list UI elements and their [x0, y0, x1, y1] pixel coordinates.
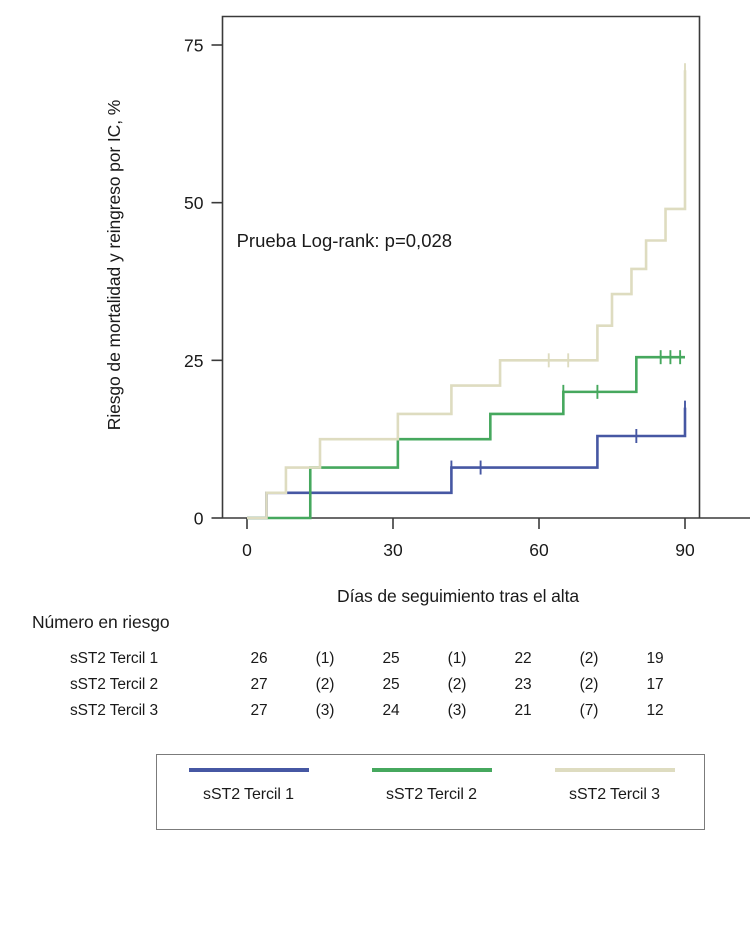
x-tick-label-60: 60	[529, 540, 549, 560]
risk-table-row: sST2 Tercil 327(3)24(3)21(7)12	[70, 698, 686, 724]
legend-label-tercil-2: sST2 Tercil 2	[386, 786, 477, 804]
risk-cell-label: sST2 Tercil 1	[70, 646, 228, 672]
plot-frame	[223, 17, 700, 519]
x-tick-label-0: 0	[242, 540, 252, 560]
legend-label-tercil-3: sST2 Tercil 3	[569, 786, 660, 804]
risk-cell-n60: 21	[492, 698, 554, 724]
risk-cell-c60: (2)	[554, 646, 624, 672]
km-step-line-1	[247, 408, 685, 518]
y-tick-label-75: 75	[184, 36, 203, 56]
risk-cell-c30: (3)	[422, 698, 492, 724]
risk-cell-label: sST2 Tercil 3	[70, 698, 228, 724]
risk-cell-n0: 26	[228, 646, 290, 672]
plot-area: 0255075 0306090 Prueba Log-rank: p=0,028…	[0, 0, 750, 600]
risk-cell-n0: 27	[228, 672, 290, 698]
risk-table: sST2 Tercil 126(1)25(1)22(2)19sST2 Terci…	[70, 646, 686, 724]
risk-cell-c0: (2)	[290, 672, 360, 698]
risk-cell-c30: (2)	[422, 672, 492, 698]
risk-cell-n30: 25	[360, 672, 422, 698]
risk-cell-c30: (1)	[422, 646, 492, 672]
y-tick-label-50: 50	[184, 193, 204, 213]
risk-table-title: Número en riesgo	[32, 612, 170, 633]
y-tick-label-0: 0	[194, 509, 204, 529]
risk-cell-c0: (3)	[290, 698, 360, 724]
legend-swatch-tercil-2	[372, 768, 492, 772]
kaplan-meier-figure: 0255075 0306090 Prueba Log-rank: p=0,028…	[0, 0, 750, 943]
km-step-line-3	[247, 70, 685, 518]
legend-box: sST2 Tercil 1 sST2 Tercil 2 sST2 Tercil …	[156, 754, 705, 830]
risk-cell-n0: 27	[228, 698, 290, 724]
km-series-1	[247, 401, 685, 518]
x-tick-label-90: 90	[675, 540, 695, 560]
risk-cell-label: sST2 Tercil 2	[70, 672, 228, 698]
risk-table-row: sST2 Tercil 126(1)25(1)22(2)19	[70, 646, 686, 672]
legend-item-tercil-3[interactable]: sST2 Tercil 3	[523, 755, 706, 831]
risk-cell-n90: 17	[624, 672, 686, 698]
km-series-3	[247, 63, 685, 518]
legend-swatch-tercil-3	[555, 768, 675, 772]
legend-item-tercil-2[interactable]: sST2 Tercil 2	[340, 755, 523, 831]
risk-cell-n60: 23	[492, 672, 554, 698]
x-tick-label-30: 30	[383, 540, 403, 560]
risk-cell-n30: 25	[360, 646, 422, 672]
legend-label-tercil-1: sST2 Tercil 1	[203, 786, 294, 804]
logrank-annotation: Prueba Log-rank: p=0,028	[237, 230, 452, 251]
legend-swatch-tercil-1	[189, 768, 309, 772]
risk-cell-c60: (7)	[554, 698, 624, 724]
x-axis-ticks: 0306090	[223, 518, 750, 560]
risk-table-row: sST2 Tercil 227(2)25(2)23(2)17	[70, 672, 686, 698]
y-axis-title: Riesgo de mortalidad y reingreso por IC,…	[104, 30, 125, 500]
y-axis-ticks: 0255075	[184, 36, 222, 529]
risk-cell-n30: 24	[360, 698, 422, 724]
risk-cell-c0: (1)	[290, 646, 360, 672]
legend-item-tercil-1[interactable]: sST2 Tercil 1	[157, 755, 340, 831]
risk-cell-n90: 12	[624, 698, 686, 724]
km-series-group	[247, 63, 685, 518]
risk-cell-n60: 22	[492, 646, 554, 672]
risk-cell-n90: 19	[624, 646, 686, 672]
x-axis-title: Días de seguimiento tras el alta	[222, 586, 694, 607]
risk-cell-c60: (2)	[554, 672, 624, 698]
y-tick-label-25: 25	[184, 351, 203, 371]
